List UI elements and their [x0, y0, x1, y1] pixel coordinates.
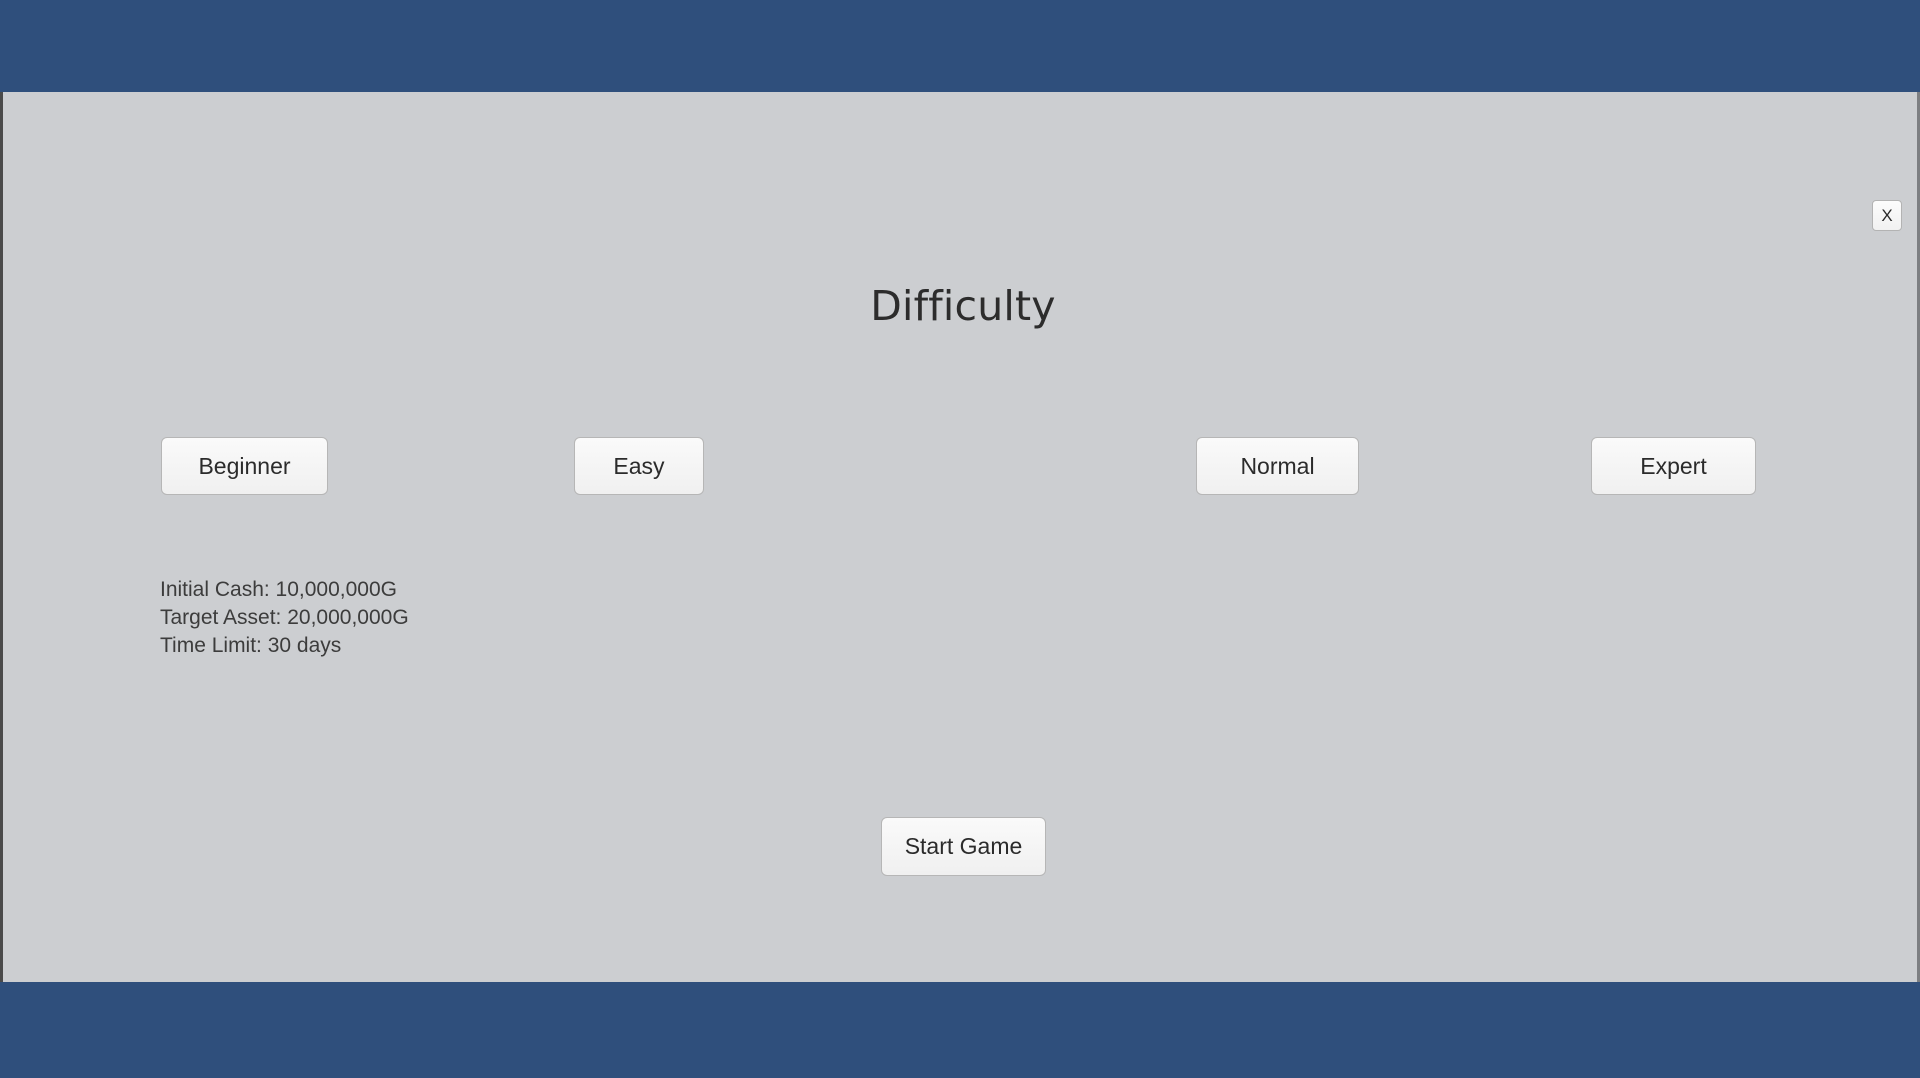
bottom-window-chrome: [0, 982, 1920, 1078]
top-window-chrome: [0, 0, 1920, 92]
detail-initial-cash: Initial Cash: 10,000,000G: [160, 576, 409, 604]
difficulty-button-normal[interactable]: Normal: [1196, 437, 1359, 495]
close-icon[interactable]: X: [1872, 200, 1902, 231]
start-game-button[interactable]: Start Game: [881, 817, 1046, 876]
page-title: Difficulty: [3, 282, 1920, 330]
difficulty-button-easy[interactable]: Easy: [574, 437, 704, 495]
difficulty-button-expert[interactable]: Expert: [1591, 437, 1756, 495]
difficulty-details: Initial Cash: 10,000,000G Target Asset: …: [160, 576, 409, 660]
detail-target-asset: Target Asset: 20,000,000G: [160, 604, 409, 632]
difficulty-button-beginner[interactable]: Beginner: [161, 437, 328, 495]
difficulty-dialog-panel: X Difficulty Beginner Easy Normal Expert…: [0, 92, 1920, 982]
detail-time-limit: Time Limit: 30 days: [160, 632, 409, 660]
app-root: X Difficulty Beginner Easy Normal Expert…: [0, 0, 1920, 1078]
